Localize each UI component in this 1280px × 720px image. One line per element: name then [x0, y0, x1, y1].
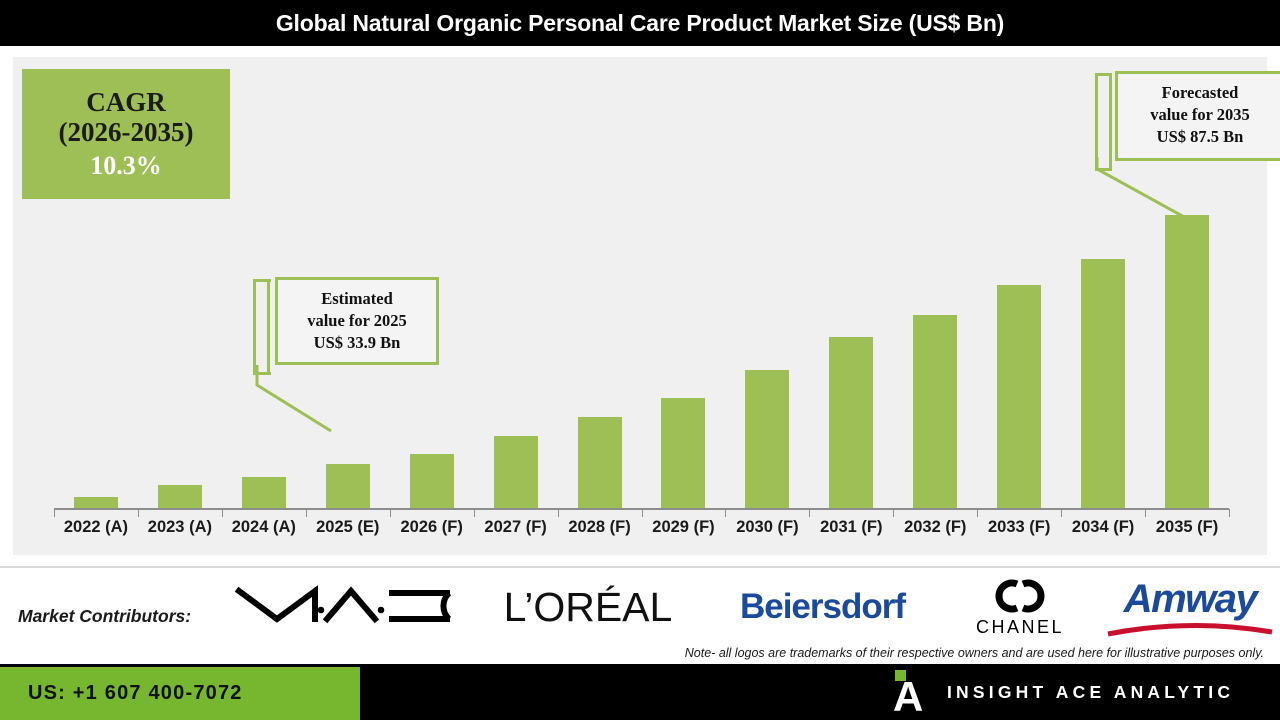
- x-axis-tick: [725, 509, 726, 517]
- brand-block: A INSIGHT ACE ANALYTIC: [893, 664, 1234, 720]
- x-axis-tick: [138, 509, 139, 517]
- x-axis-label-2026: 2026 (F): [390, 518, 474, 537]
- chanel-cc-icon: [981, 576, 1059, 616]
- x-axis-tick: [642, 509, 643, 517]
- bar-2032: [913, 315, 957, 508]
- x-axis-label-2035: 2035 (F): [1145, 518, 1229, 537]
- x-axis-labels: 2022 (A)2023 (A)2024 (A)2025 (E)2026 (F)…: [13, 518, 1267, 558]
- bar-2022: [74, 497, 118, 508]
- bars-layer: [13, 57, 1267, 509]
- chanel-logo: CHANEL: [950, 568, 1090, 646]
- beiersdorf-logo-text: Beiersdorf: [740, 587, 905, 627]
- callout-forecasted-line2: value for 2035: [1128, 104, 1272, 126]
- insightace-logo-icon: A: [893, 670, 927, 714]
- page-title: Global Natural Organic Personal Care Pro…: [276, 10, 1004, 37]
- callout-estimated-line2: value for 2025: [288, 310, 426, 332]
- bar-2027: [494, 436, 538, 508]
- x-axis-label-2030: 2030 (F): [725, 518, 809, 537]
- callout-estimated-line1: Estimated: [288, 288, 426, 310]
- amway-logo-text: Amway: [1124, 577, 1257, 622]
- bar-2031: [829, 337, 873, 508]
- x-axis-label-2027: 2027 (F): [474, 518, 558, 537]
- x-axis-label-2025: 2025 (E): [306, 518, 390, 537]
- x-axis-tick: [222, 509, 223, 517]
- bar-2023: [158, 485, 202, 508]
- phone-number: US: +1 607 400-7072: [28, 682, 243, 705]
- logo-letter-a: A: [893, 680, 923, 714]
- x-axis-label-2024: 2024 (A): [222, 518, 306, 537]
- brand-name: INSIGHT ACE ANALYTIC: [947, 682, 1234, 703]
- callout-estimated-line3: US$ 33.9 Bn: [288, 332, 426, 354]
- phone-block[interactable]: US: +1 607 400-7072: [0, 667, 360, 720]
- x-axis-label-2032: 2032 (F): [893, 518, 977, 537]
- bar-2026: [410, 454, 454, 508]
- callout-forecasted-line3: US$ 87.5 Bn: [1128, 126, 1272, 148]
- x-axis-label-2031: 2031 (F): [809, 518, 893, 537]
- x-axis-tick: [1145, 509, 1146, 517]
- callout-estimated-2025: Estimated value for 2025 US$ 33.9 Bn: [275, 277, 439, 365]
- amway-logo: Amway: [1105, 568, 1275, 646]
- x-axis-tick: [390, 509, 391, 517]
- x-axis-label-2033: 2033 (F): [977, 518, 1061, 537]
- x-axis-label-2022: 2022 (A): [54, 518, 138, 537]
- callout-forecasted-line1: Forecasted: [1128, 82, 1272, 104]
- market-contributors-label: Market Contributors:: [18, 606, 191, 627]
- bar-2029: [661, 398, 705, 508]
- callout-leader-2035: [1093, 153, 1223, 233]
- bar-2030: [745, 370, 789, 508]
- x-axis-tick: [306, 509, 307, 517]
- beiersdorf-logo: Beiersdorf: [710, 568, 935, 646]
- footer-bar: US: +1 607 400-7072 A INSIGHT ACE ANALYT…: [0, 664, 1280, 720]
- x-axis-label-2029: 2029 (F): [642, 518, 726, 537]
- x-axis-tick: [893, 509, 894, 517]
- plot-area: CAGR (2026-2035) 10.3% 2022 (A)2023 (A)2…: [13, 57, 1267, 555]
- x-axis-label-2028: 2028 (F): [558, 518, 642, 537]
- bar-2028: [578, 417, 622, 508]
- mac-logo: [225, 568, 465, 646]
- x-axis-tick: [809, 509, 810, 517]
- logo-disclaimer-note: Note- all logos are trademarks of their …: [685, 646, 1264, 660]
- market-contributors-strip: Market Contributors: L’ORÉAL Beiersdorf …: [0, 566, 1280, 664]
- amway-swoosh-icon: [1106, 622, 1274, 638]
- chart-panel: CAGR (2026-2035) 10.3% 2022 (A)2023 (A)2…: [6, 50, 1274, 562]
- x-axis-tick: [558, 509, 559, 517]
- x-axis-label-2023: 2023 (A): [138, 518, 222, 537]
- chanel-logo-text: CHANEL: [976, 617, 1064, 638]
- bar-2025: [326, 464, 370, 508]
- bar-2033: [997, 285, 1041, 508]
- x-axis-tick: [977, 509, 978, 517]
- callout-leader-2025: [253, 357, 363, 437]
- loreal-logo: L’ORÉAL: [478, 568, 698, 646]
- loreal-logo-text: L’ORÉAL: [504, 584, 673, 631]
- x-axis-tick: [54, 509, 55, 517]
- bar-2034: [1081, 259, 1125, 508]
- x-axis-tick: [1229, 509, 1230, 517]
- x-axis-tick: [1061, 509, 1062, 517]
- x-axis-tick: [474, 509, 475, 517]
- bar-2024: [242, 477, 286, 508]
- bar-2035: [1165, 215, 1209, 508]
- title-bar: Global Natural Organic Personal Care Pro…: [0, 0, 1280, 46]
- x-axis-label-2034: 2034 (F): [1061, 518, 1145, 537]
- callout-forecasted-2035: Forecasted value for 2035 US$ 87.5 Bn: [1115, 71, 1280, 161]
- mac-logo-icon: [233, 579, 458, 635]
